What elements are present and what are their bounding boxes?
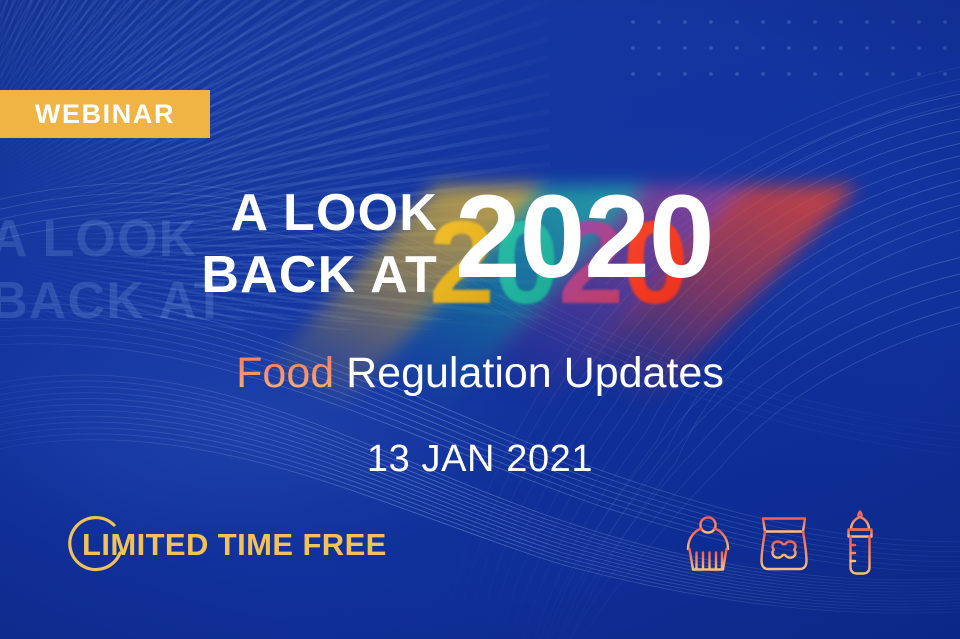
dot-grid-pattern [610,0,960,92]
food-icon-row [680,508,888,578]
event-date: 13 JAN 2021 [0,434,960,484]
year-2020: 2020 [455,172,714,302]
headline-line1: A LOOK [0,182,438,244]
pet-food-bag-icon [756,508,812,578]
year-wrap: 2020 [455,172,714,307]
subtitle-highlight: Food [236,349,334,397]
year-digit: 2 [455,172,520,302]
headline-line2-wrap: BACK AT [0,244,438,306]
cupcake-icon [680,508,736,578]
limited-time-free-block: LIMITED TIME FREE [62,505,387,585]
headline-line1-wrap: A LOOK [0,182,438,244]
year-digit: 0 [649,172,714,302]
subtitle-rest: Regulation Updates [334,349,724,397]
webinar-badge-label: WEBINAR [35,99,175,130]
headline-line2: BACK AT [0,244,438,306]
subtitle: Food Regulation Updates [0,345,960,401]
webinar-badge: WEBINAR [0,90,210,138]
year-digit: 2 [584,172,649,302]
webinar-promo-banner: WEBINAR A LOOK BACK AT 2020 Food Regulat… [0,0,960,639]
limited-time-free-label: LIMITED TIME FREE [82,527,387,563]
year-digit: 0 [520,172,585,302]
baby-bottle-icon [832,508,888,578]
